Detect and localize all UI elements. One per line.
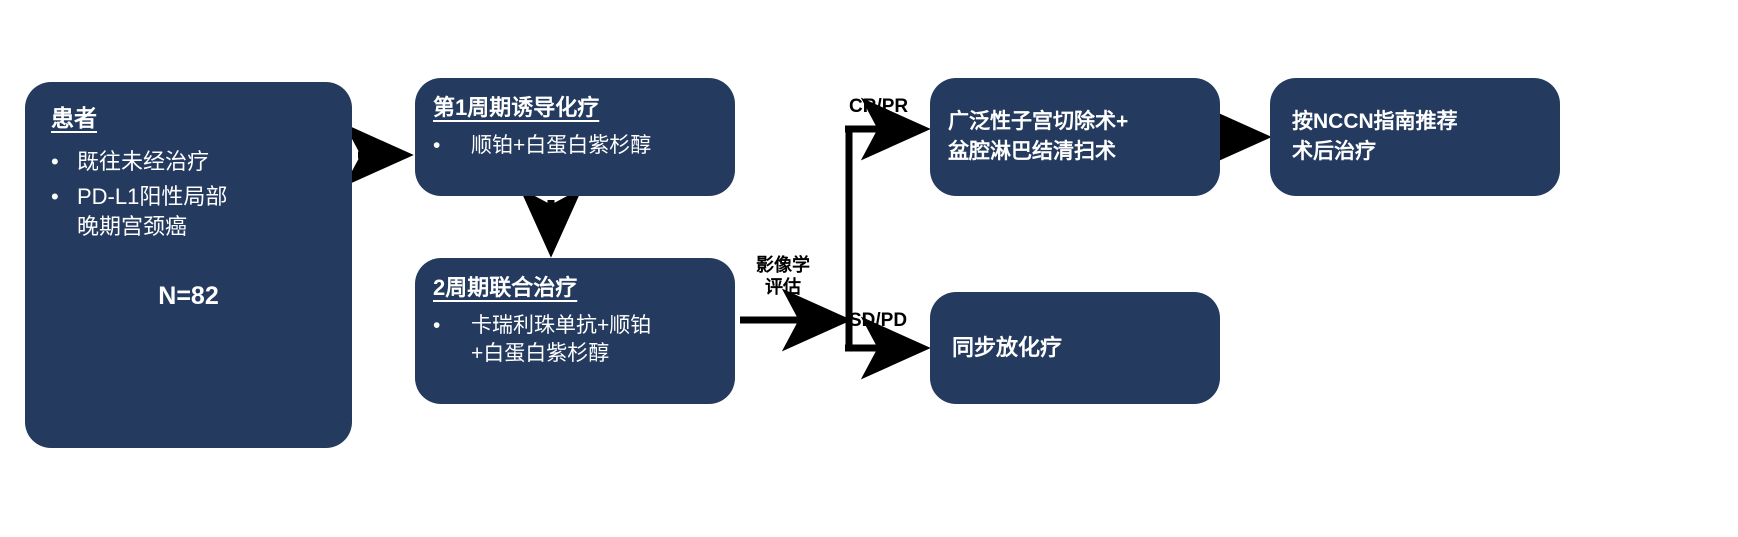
bullet-dot-icon: • xyxy=(51,182,59,212)
bullet-dot-icon: • xyxy=(433,312,440,340)
node-patients-bullets: • 既往未经治疗 • PD-L1阳性局部 晚期宫颈癌 xyxy=(51,147,326,248)
node-concurrent-chemoradiation[interactable]: 同步放化疗 xyxy=(930,292,1220,404)
edge-label-imaging-line-1: 影像学 xyxy=(748,255,818,277)
node-cycle2-title: 2周期联合治疗 xyxy=(433,274,717,302)
edge-label-imaging-line-2: 评估 xyxy=(748,277,818,299)
node-cycle2-bullets: • 卡瑞利珠单抗+顺铂 +白蛋白紫杉醇 xyxy=(433,312,717,369)
node-patients-title: 患者 xyxy=(51,104,326,133)
node-surgery-line-1: 广泛性子宫切除术+ xyxy=(948,107,1202,137)
list-item: • 卡瑞利珠单抗+顺铂 +白蛋白紫杉醇 xyxy=(433,312,717,369)
bullet-text: 卡瑞利珠单抗+顺铂 xyxy=(471,312,717,340)
bullet-text-continued: 晚期宫颈癌 xyxy=(77,212,326,242)
list-item: • 顺铂+白蛋白紫杉醇 xyxy=(433,132,717,160)
node-nccn-line-2: 术后治疗 xyxy=(1292,137,1538,167)
bullet-dot-icon: • xyxy=(51,147,59,177)
list-item: • 既往未经治疗 xyxy=(51,147,326,177)
node-radical-hysterectomy[interactable]: 广泛性子宫切除术+ 盆腔淋巴结清扫术 xyxy=(930,78,1220,196)
node-cycle1-title: 第1周期诱导化疗 xyxy=(433,94,717,122)
bullet-text-continued: +白蛋白紫杉醇 xyxy=(471,340,717,368)
node-cycle1-induction[interactable]: 第1周期诱导化疗 • 顺铂+白蛋白紫杉醇 xyxy=(415,78,735,196)
node-patients[interactable]: 患者 • 既往未经治疗 • PD-L1阳性局部 晚期宫颈癌 N=82 xyxy=(25,82,352,448)
flowchart-canvas: 患者 • 既往未经治疗 • PD-L1阳性局部 晚期宫颈癌 N=82 第1周期诱… xyxy=(0,0,1738,537)
bullet-dot-icon: • xyxy=(433,132,440,160)
node-nccn-adjuvant[interactable]: 按NCCN指南推荐 术后治疗 xyxy=(1270,78,1560,196)
node-chemoradiation-line-1: 同步放化疗 xyxy=(952,332,1198,364)
bullet-text: 既往未经治疗 xyxy=(77,147,326,177)
edge-label-imaging-assessment: 影像学 评估 xyxy=(748,255,818,298)
node-nccn-line-1: 按NCCN指南推荐 xyxy=(1292,107,1538,137)
bullet-text: 顺铂+白蛋白紫杉醇 xyxy=(471,132,717,160)
node-cycle1-bullets: • 顺铂+白蛋白紫杉醇 xyxy=(433,132,717,160)
edge-label-sd-pd: SD/PD xyxy=(849,310,907,333)
node-cycle2-combination[interactable]: 2周期联合治疗 • 卡瑞利珠单抗+顺铂 +白蛋白紫杉醇 xyxy=(415,258,735,404)
edge-label-cr-pr: CR/PR xyxy=(849,96,908,119)
list-item: • PD-L1阳性局部 晚期宫颈癌 xyxy=(51,182,326,241)
bullet-text: PD-L1阳性局部 xyxy=(77,182,326,212)
node-surgery-line-2: 盆腔淋巴结清扫术 xyxy=(948,137,1202,167)
patient-count: N=82 xyxy=(51,282,326,311)
